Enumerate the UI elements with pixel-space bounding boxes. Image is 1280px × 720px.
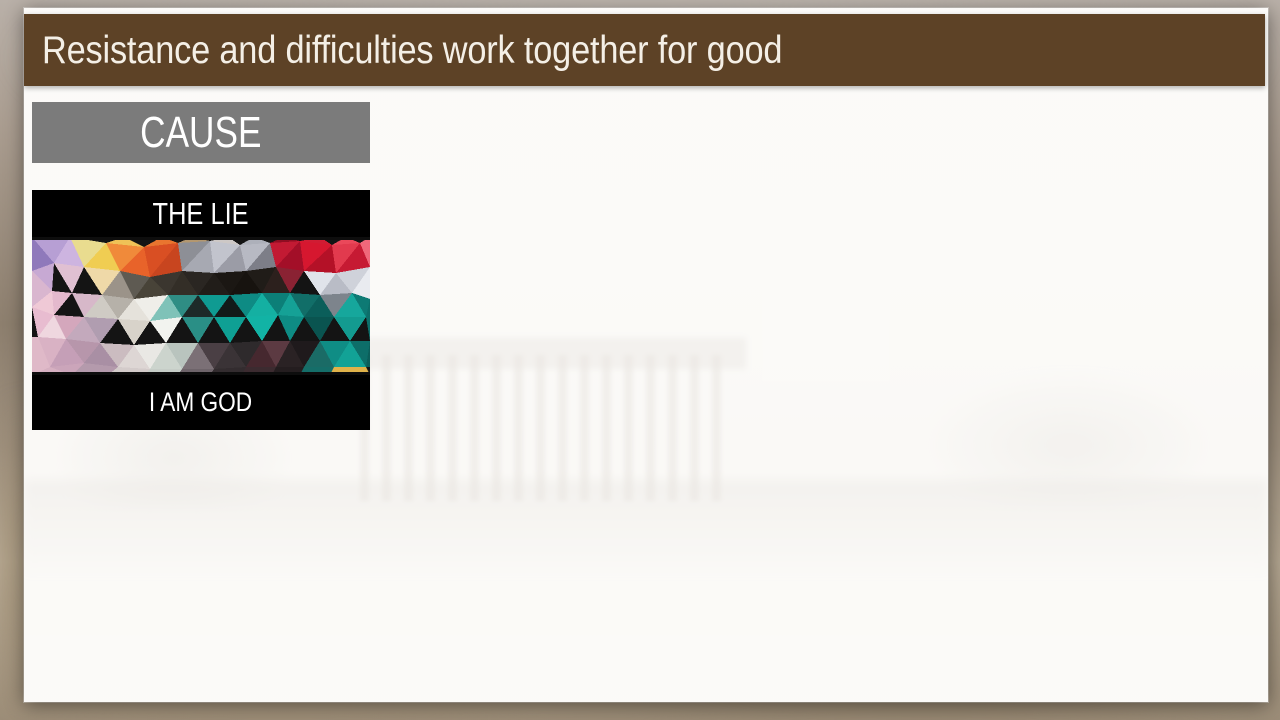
god-caption-band: I AM GOD: [32, 375, 370, 430]
cause-heading-band: CAUSE: [32, 102, 370, 163]
god-caption-label: I AM GOD: [149, 389, 252, 416]
lie-caption-band: THE LIE: [32, 190, 370, 237]
background-temple-columns: [360, 355, 733, 501]
lie-card: THE LIE: [32, 190, 370, 430]
cause-heading-label: CAUSE: [140, 111, 261, 155]
page-title: Resistance and difficulties work togethe…: [42, 31, 782, 70]
content-column: CAUSE THE LIE: [32, 102, 378, 430]
slide-title-banner: Resistance and difficulties work togethe…: [24, 14, 1265, 86]
low-poly-eye-image: [32, 237, 370, 375]
presentation-stage: Resistance and difficulties work togethe…: [0, 0, 1280, 720]
lie-caption-label: THE LIE: [153, 198, 249, 229]
slide-canvas: Resistance and difficulties work togethe…: [24, 8, 1268, 702]
background-ground: [24, 480, 1268, 577]
